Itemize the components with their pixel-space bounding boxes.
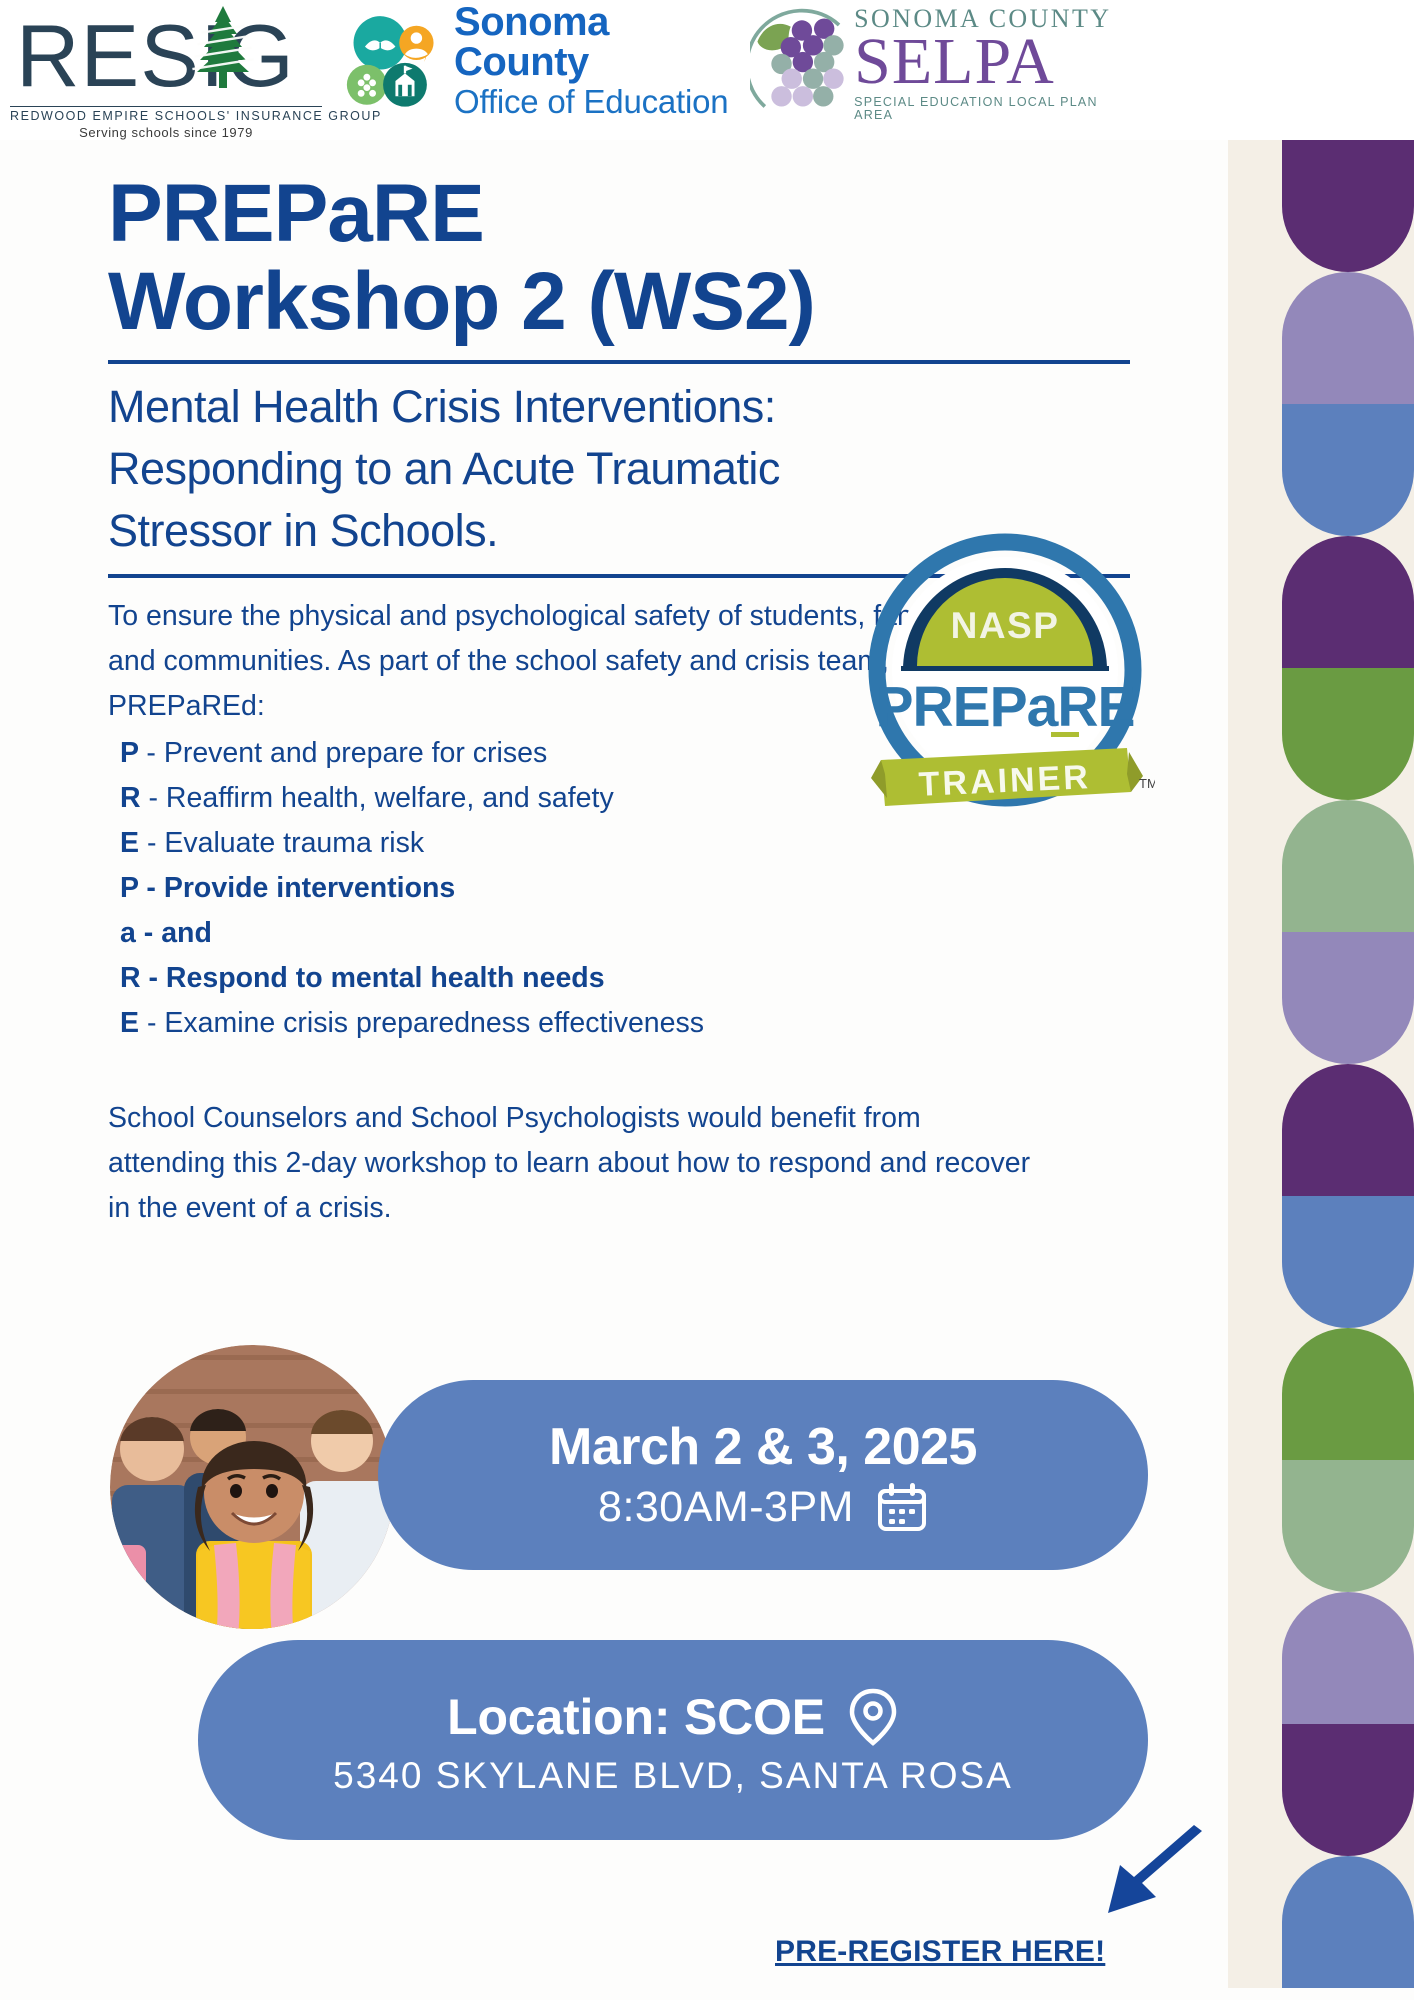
logo-bar: RESIG REDWOOD EMPIRE SCHOOLS' INSU — [0, 0, 1414, 140]
prepare-item-text: - Provide interventions — [146, 872, 455, 904]
prepare-item-letter: E — [120, 1007, 147, 1039]
decorative-shape-5 — [1228, 800, 1414, 932]
decorative-shape-2 — [1228, 404, 1414, 536]
badge-nasp-text: NASP — [951, 605, 1060, 646]
prepare-item-text: - and — [144, 917, 212, 949]
prepare-item-text: - Respond to mental health needs — [149, 962, 605, 994]
decorative-shape-fill — [1282, 404, 1414, 536]
subtitle-line-3: Stressor in Schools. — [108, 505, 498, 556]
decorative-shape-7 — [1228, 1064, 1414, 1196]
redwood-tree-icon — [185, 6, 261, 88]
subtitle-line-2: Responding to an Acute Traumatic — [108, 443, 780, 494]
event-location: Location: SCOE — [447, 1688, 825, 1746]
decorative-shape-fill — [1282, 272, 1414, 404]
decorative-shape-11 — [1228, 1592, 1414, 1724]
event-time-row: 8:30AM-3PM — [598, 1481, 928, 1533]
prepare-item-text: - Reaffirm health, welfare, and safety — [149, 782, 614, 814]
event-location-pill: Location: SCOE 5340 SKYLANE BLVD, SANTA … — [198, 1640, 1148, 1840]
event-address: 5340 SKYLANE BLVD, SANTA ROSA — [333, 1755, 1013, 1797]
scoe-icon-cluster — [344, 10, 444, 110]
decorative-shape-10 — [1228, 1460, 1414, 1592]
decorative-shape-8 — [1228, 1196, 1414, 1328]
selpa-line-3: SPECIAL EDUCATION LOCAL PLAN AREA — [854, 96, 1120, 121]
decorative-shape-6 — [1228, 932, 1414, 1064]
prepare-item-letter: R — [120, 962, 149, 994]
prepare-item-letter: R — [120, 782, 149, 814]
decorative-shape-fill — [1282, 140, 1414, 272]
resig-tagline-1: REDWOOD EMPIRE SCHOOLS' INSURANCE GROUP — [10, 106, 322, 123]
prepare-item-5: R - Respond to mental health needs — [108, 956, 1190, 1001]
prepare-item-6: E - Examine crisis preparedness effectiv… — [108, 1001, 1190, 1046]
decorative-shape-9 — [1228, 1328, 1414, 1460]
prepare-item-text: - Prevent and prepare for crises — [146, 737, 547, 769]
decorative-shape-fill — [1282, 1328, 1414, 1460]
avatar — [110, 1345, 395, 1630]
decorative-shape-3 — [1228, 536, 1414, 668]
scoe-line-1: Sonoma County — [454, 2, 740, 82]
smiling-student-photo — [110, 1345, 395, 1630]
decorative-shape-fill — [1282, 1724, 1414, 1856]
page-title: PREPaRE Workshop 2 (WS2) — [108, 170, 1190, 346]
decorative-shape-fill — [1282, 668, 1414, 800]
event-date-pill: March 2 & 3, 2025 8:30AM-3PM — [378, 1380, 1148, 1570]
title-block: PREPaRE Workshop 2 (WS2) Mental Health C… — [0, 140, 1190, 578]
prepare-item-text: - Examine crisis preparedness effectiven… — [147, 1007, 704, 1039]
prepare-item-4: a - and — [108, 911, 1190, 956]
badge-tm-text: TM — [1139, 776, 1155, 791]
decorative-shape-12 — [1228, 1724, 1414, 1856]
flyer-page: RESIG REDWOOD EMPIRE SCHOOLS' INSU — [0, 0, 1414, 2000]
location-row: Location: SCOE — [447, 1687, 899, 1747]
prepare-item-letter: P — [120, 737, 146, 769]
prepare-item-text: - Evaluate trauma risk — [147, 827, 424, 859]
resig-wordmark: RESIG — [10, 6, 322, 106]
grape-cluster-icon — [750, 0, 850, 125]
decorative-shape-fill — [1282, 1064, 1414, 1196]
event-date: March 2 & 3, 2025 — [549, 1417, 977, 1477]
decorative-shape-column — [1228, 140, 1414, 2000]
decorative-shape-4 — [1228, 668, 1414, 800]
decorative-shape-0 — [1228, 140, 1414, 272]
map-pin-icon — [847, 1687, 899, 1747]
pre-register-link[interactable]: PRE-REGISTER HERE! — [775, 1935, 1105, 1969]
resig-logo: RESIG REDWOOD EMPIRE SCHOOLS' INSU — [0, 0, 330, 140]
badge-trainer-text: TRAINER — [918, 758, 1092, 804]
badge-prepare-text: PREPaRE — [875, 675, 1134, 739]
decorative-shape-fill — [1282, 932, 1414, 1064]
prepare-item-letter: a — [120, 917, 144, 949]
title-divider — [108, 360, 1130, 364]
subtitle-line-1: Mental Health Crisis Interventions: — [108, 381, 776, 432]
nasp-prepare-trainer-badge: NASP PREPaRE TRAINER TM — [855, 530, 1155, 820]
selpa-logo: SONOMA COUNTY SELPA SPECIAL EDUCATION LO… — [740, 0, 1120, 128]
scoe-logo: Sonoma County Office of Education — [330, 0, 740, 120]
decorative-shape-fill — [1282, 800, 1414, 932]
benefit-paragraph: School Counselors and School Psychologis… — [108, 1096, 1038, 1231]
prepare-item-letter: P — [120, 872, 146, 904]
decorative-shape-fill — [1282, 1856, 1414, 1988]
prepare-item-letter: E — [120, 827, 147, 859]
prepare-item-3: P - Provide interventions — [108, 866, 1190, 911]
selpa-line-2: SELPA — [854, 30, 1120, 94]
calendar-icon — [876, 1481, 928, 1533]
prepare-item-2: E - Evaluate trauma risk — [108, 821, 1190, 866]
resig-tagline-2: Serving schools since 1979 — [10, 123, 322, 140]
scoe-line-2: Office of Education — [454, 85, 740, 118]
decorative-shape-1 — [1228, 272, 1414, 404]
down-left-arrow-icon — [1090, 1825, 1210, 1925]
decorative-shape-fill — [1282, 1196, 1414, 1328]
decorative-shape-fill — [1282, 536, 1414, 668]
event-time: 8:30AM-3PM — [598, 1483, 854, 1532]
title-line-1: PREPaRE — [108, 168, 484, 259]
scoe-text: Sonoma County Office of Education — [454, 2, 740, 118]
decorative-shape-fill — [1282, 1592, 1414, 1724]
decorative-shape-13 — [1228, 1856, 1414, 1988]
selpa-text: SONOMA COUNTY SELPA SPECIAL EDUCATION LO… — [854, 0, 1120, 121]
decorative-shape-fill — [1282, 1460, 1414, 1592]
title-line-2: Workshop 2 (WS2) — [108, 256, 815, 347]
